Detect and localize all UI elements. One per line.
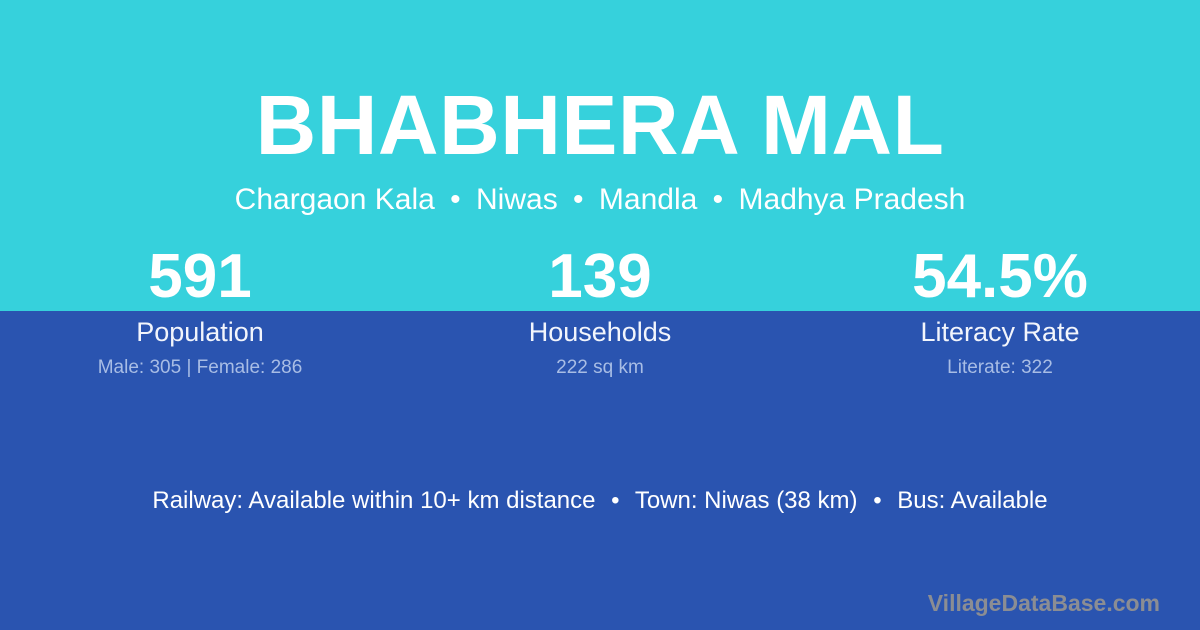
transport-separator-icon: • — [864, 487, 890, 514]
stat-label-households: Households — [400, 316, 800, 348]
stat-sub-households: 222 sq km — [400, 356, 800, 379]
breadcrumb-separator-icon: • — [706, 183, 731, 216]
stats-row: 591 Population Male: 305 | Female: 286 1… — [0, 243, 1200, 379]
breadcrumb: Chargaon Kala • Niwas • Mandla • Madhya … — [0, 182, 1200, 218]
stat-value-literacy-rate: 54.5% — [800, 243, 1200, 311]
transport-item-bus: Bus: Available — [897, 487, 1047, 514]
stat-value-population: 591 — [0, 243, 400, 311]
transport-info: Railway: Available within 10+ km distanc… — [0, 486, 1200, 516]
stat-sub-literacy-rate: Literate: 322 — [800, 356, 1200, 379]
stat-households: 139 Households 222 sq km — [400, 243, 800, 379]
breadcrumb-item-2: Mandla — [599, 183, 697, 216]
site-brand-watermark: VillageDataBase.com — [928, 589, 1160, 617]
stat-label-literacy-rate: Literacy Rate — [800, 316, 1200, 348]
village-info-card: BHABHERA MAL Chargaon Kala • Niwas • Man… — [0, 0, 1200, 630]
stat-sub-population: Male: 305 | Female: 286 — [0, 356, 400, 379]
stat-value-households: 139 — [400, 243, 800, 311]
transport-separator-icon: • — [602, 487, 628, 514]
transport-item-railway: Railway: Available within 10+ km distanc… — [152, 487, 595, 514]
breadcrumb-item-0: Chargaon Kala — [235, 183, 435, 216]
breadcrumb-separator-icon: • — [443, 183, 468, 216]
breadcrumb-separator-icon: • — [566, 183, 591, 216]
stat-population: 591 Population Male: 305 | Female: 286 — [0, 243, 400, 379]
stat-label-population: Population — [0, 316, 400, 348]
transport-item-town: Town: Niwas (38 km) — [635, 487, 858, 514]
breadcrumb-item-1: Niwas — [476, 183, 558, 216]
stat-literacy-rate: 54.5% Literacy Rate Literate: 322 — [800, 243, 1200, 379]
page-title: BHABHERA MAL — [0, 78, 1200, 172]
breadcrumb-item-3: Madhya Pradesh — [739, 183, 966, 216]
